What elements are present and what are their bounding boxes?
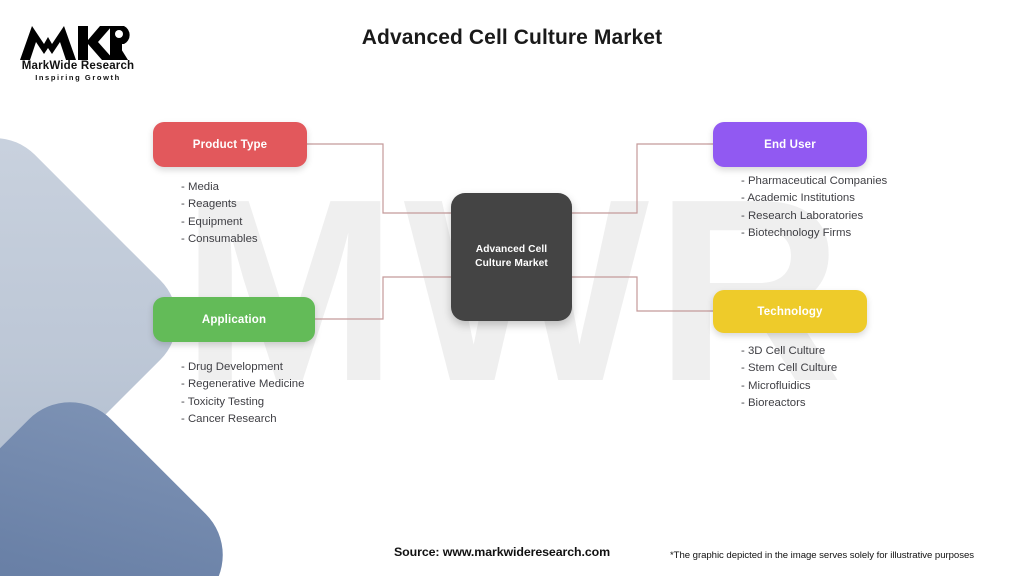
branch-label-application: Application (202, 314, 266, 326)
list-item: - Reagents (181, 196, 258, 213)
list-item: - Research Laboratories (741, 208, 887, 225)
list-item: - Regenerative Medicine (181, 376, 304, 393)
list-item: - Microfluidics (741, 378, 837, 395)
list-item: - Pharmaceutical Companies (741, 173, 887, 190)
center-node-line1: Advanced Cell (476, 244, 548, 255)
branch-list-product-type: - Media - Reagents - Equipment - Consuma… (181, 179, 258, 249)
list-item: - Toxicity Testing (181, 394, 304, 411)
list-item: - Drug Development (181, 359, 304, 376)
list-item: - Stem Cell Culture (741, 360, 837, 377)
list-item: - Biotechnology Firms (741, 225, 887, 242)
branch-label-product-type: Product Type (193, 139, 267, 151)
list-item: - Media (181, 179, 258, 196)
list-item: - Academic Institutions (741, 190, 887, 207)
logo-company-name: MarkWide Research (18, 60, 138, 72)
list-item: - Bioreactors (741, 395, 837, 412)
logo-tagline: Inspiring Growth (18, 73, 138, 82)
branch-label-end-user: End User (764, 139, 816, 151)
list-item: - 3D Cell Culture (741, 343, 837, 360)
branch-list-end-user: - Pharmaceutical Companies - Academic In… (741, 173, 887, 243)
center-node-label: Advanced Cell Culture Market (475, 243, 548, 271)
list-item: - Equipment (181, 214, 258, 231)
branch-label-technology: Technology (757, 306, 822, 318)
branch-box-technology[interactable]: Technology (713, 290, 867, 333)
branch-box-end-user[interactable]: End User (713, 122, 867, 167)
center-node-line2: Culture Market (475, 258, 548, 269)
list-item: - Consumables (181, 231, 258, 248)
branch-box-application[interactable]: Application (153, 297, 315, 342)
page-title: Advanced Cell Culture Market (0, 26, 1024, 50)
source-text: Source: www.markwideresearch.com (394, 545, 610, 559)
branch-list-technology: - 3D Cell Culture - Stem Cell Culture - … (741, 343, 837, 413)
branch-box-product-type[interactable]: Product Type (153, 122, 307, 167)
disclaimer-text: *The graphic depicted in the image serve… (670, 550, 974, 561)
branch-list-application: - Drug Development - Regenerative Medici… (181, 359, 304, 429)
center-node-advanced-cell-culture-market[interactable]: Advanced Cell Culture Market (451, 193, 572, 321)
list-item: - Cancer Research (181, 411, 304, 428)
infographic-canvas: MWR MarkWide Research Inspiring Growth A… (0, 0, 1024, 576)
